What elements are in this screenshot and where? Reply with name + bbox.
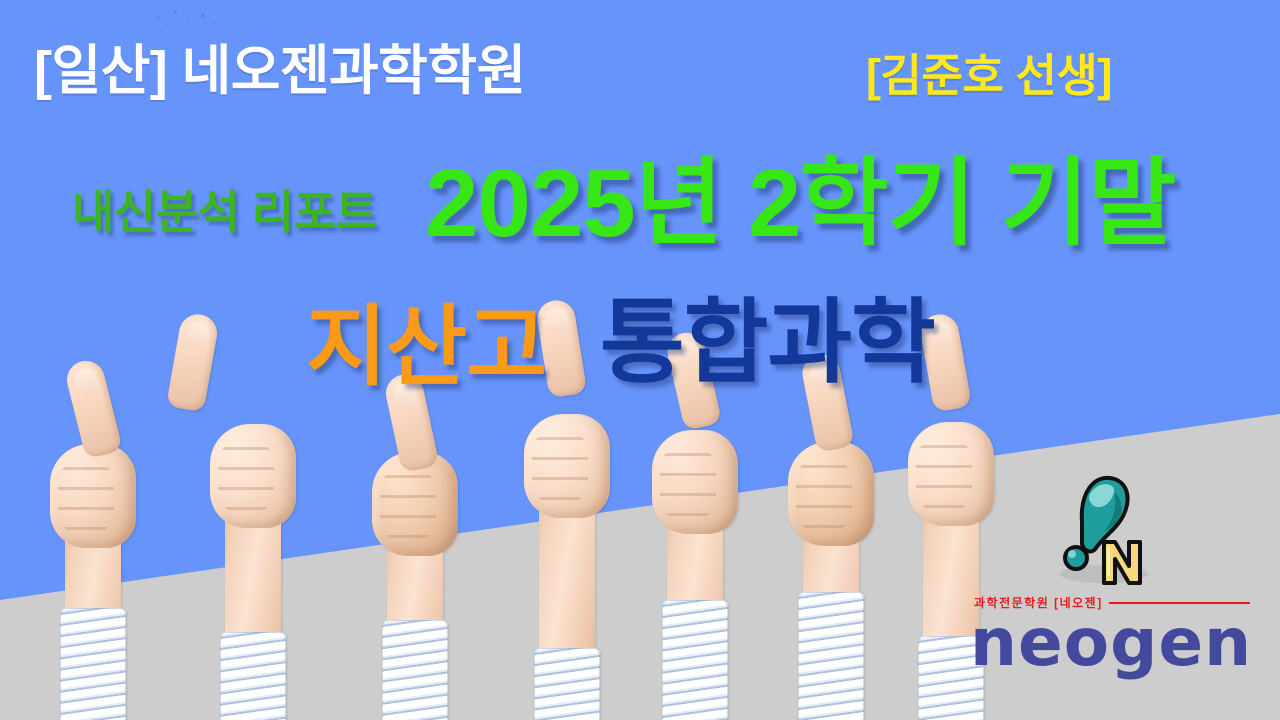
academy-name-title: [일산] 네오젠과학학원 <box>34 44 526 98</box>
fist <box>50 444 136 548</box>
subject-name-text: 통합과학 <box>600 297 935 389</box>
shirt-cuff <box>662 600 728 720</box>
shirt-cuff <box>534 648 600 720</box>
neogen-logo-block: 과학전문학원 [네오젠] neogen <box>958 470 1258 700</box>
thumbnail-nail <box>73 367 101 398</box>
thumbnail-nail <box>544 307 570 336</box>
logo-wordmark-text: neogen <box>970 610 1252 676</box>
knuckles <box>218 438 274 516</box>
thumbs-up-hand <box>178 398 328 720</box>
term-title-text: 2025년 2학기 기말 <box>425 156 1175 252</box>
fist <box>788 442 874 546</box>
neogen-mascot-icon <box>1036 470 1186 590</box>
fist <box>210 424 296 528</box>
knuckles <box>380 466 436 544</box>
shirt-cuff <box>220 632 286 720</box>
thumbs-up-hand <box>620 404 770 720</box>
thumbs-up-hand <box>18 418 168 720</box>
thumbnail-canvas: [일산] 네오젠과학학원 [김준호 선생] 내신분석 리포트 2025년 2학기… <box>0 0 1280 720</box>
fist <box>652 430 738 534</box>
thumbs-up-hand <box>340 426 490 720</box>
thumbnail-nail <box>185 321 211 350</box>
school-name-text: 지산고 <box>306 303 546 391</box>
shirt-cuff <box>798 592 864 720</box>
fist <box>524 414 610 518</box>
report-label-text: 내신분석 리포트 <box>72 189 377 235</box>
teacher-name-badge: [김준호 선생] <box>866 53 1112 98</box>
knuckles <box>796 456 852 534</box>
background-noise-speckle <box>150 8 230 30</box>
knuckles <box>58 458 114 536</box>
knuckles <box>532 428 588 506</box>
knuckles <box>660 444 716 522</box>
shirt-cuff <box>60 608 126 720</box>
shirt-cuff <box>382 620 448 720</box>
